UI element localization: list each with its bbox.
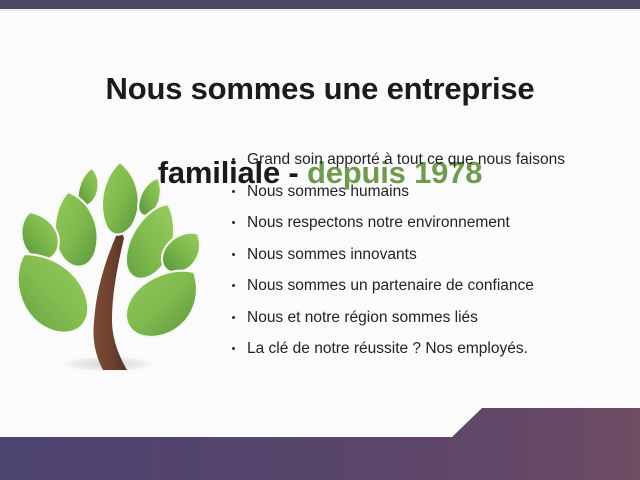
tree-leaf-lower-right xyxy=(126,271,197,337)
list-item-label: Nous respectons notre environnement xyxy=(247,214,510,231)
bullet-dot-icon xyxy=(232,316,235,319)
bullet-dot-icon xyxy=(232,221,235,224)
list-item-label: Nous sommes humains xyxy=(247,183,409,200)
list-item-label: Nous et notre région sommes liés xyxy=(247,309,478,326)
list-item: Nous sommes humains xyxy=(228,182,628,201)
list-item: Grand soin apporté à tout ce que nous fa… xyxy=(228,150,628,169)
bullet-dot-icon xyxy=(232,347,235,350)
page-title-line-1: Nous sommes une entreprise xyxy=(0,68,640,109)
slide-canvas: Nous sommes une entreprise familiale - d… xyxy=(0,0,640,480)
bullet-dot-icon xyxy=(232,284,235,287)
bullet-dot-icon xyxy=(232,190,235,193)
value-proposition-list: Grand soin apporté à tout ce que nous fa… xyxy=(228,150,628,371)
tree-trunk xyxy=(93,232,127,370)
footer-band: tabor-automobiles.fr xyxy=(0,400,640,480)
tree-leaf-far-left xyxy=(21,212,58,260)
list-item-label: Nous sommes un partenaire de confiance xyxy=(247,277,534,294)
bullet-dot-icon xyxy=(232,158,235,161)
list-item: Nous respectons notre environnement xyxy=(228,213,628,232)
bullet-dot-icon xyxy=(232,253,235,256)
list-item: Nous et notre région sommes liés xyxy=(228,308,628,327)
tree-leaf-top-center xyxy=(102,162,139,235)
list-item: Nous sommes un partenaire de confiance xyxy=(228,276,628,295)
top-accent-hairline xyxy=(0,9,640,11)
family-tree-illustration xyxy=(8,140,218,390)
list-item-label: La clé de notre réussite ? Nos employés. xyxy=(247,340,528,357)
list-item-label: Grand soin apporté à tout ce que nous fa… xyxy=(247,151,565,168)
list-item-label: Nous sommes innovants xyxy=(247,246,417,263)
list-item: La clé de notre réussite ? Nos employés. xyxy=(228,339,628,358)
top-accent-bar xyxy=(0,0,640,9)
list-item: Nous sommes innovants xyxy=(228,245,628,264)
footer-shape-path xyxy=(0,408,640,480)
